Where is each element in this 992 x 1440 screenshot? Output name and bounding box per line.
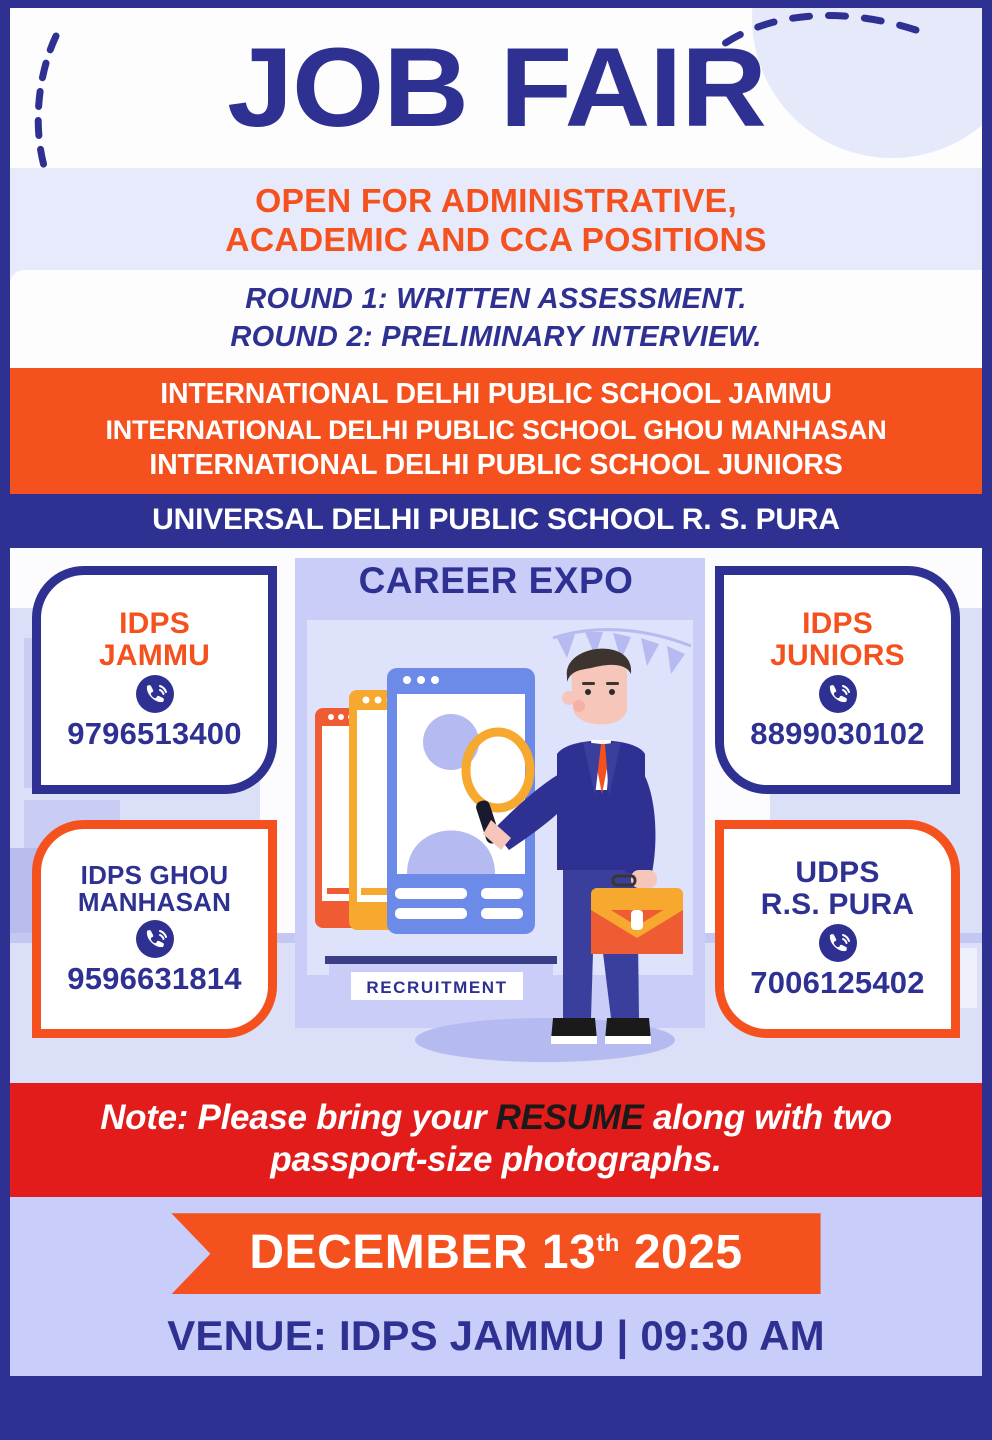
phone-icon — [818, 923, 858, 963]
school-name: INTERNATIONAL DELHI PUBLIC SCHOOL JUNIOR… — [10, 447, 982, 483]
positions-heading: OPEN FOR ADMINISTRATIVE, ACADEMIC AND CC… — [10, 182, 982, 260]
note-text: Note: Please bring your RESUME along wit… — [28, 1097, 964, 1181]
contact-badge-idps-jammu[interactable]: IDPS JAMMU 9796513400 — [32, 566, 277, 794]
event-date-month-day: DECEMBER 13 — [249, 1226, 596, 1279]
contact-phone-number[interactable]: 9596631814 — [67, 961, 241, 997]
note-text-highlight: RESUME — [496, 1098, 644, 1137]
round-2-text: ROUND 2: PRELIMINARY INTERVIEW. — [10, 318, 982, 356]
school-name: INTERNATIONAL DELHI PUBLIC SCHOOL JAMMU — [10, 376, 982, 412]
school-name: INTERNATIONAL DELHI PUBLIC SCHOOL GHOU M… — [10, 413, 982, 448]
rounds-block: ROUND 1: WRITTEN ASSESSMENT. ROUND 2: PR… — [10, 270, 982, 369]
date-ribbon-wrap: DECEMBER 13th 2025 — [10, 1213, 982, 1294]
venue-and-time: VENUE: IDPS JAMMU | 09:30 AM — [10, 1312, 982, 1360]
contact-badge-idps-juniors[interactable]: IDPS JUNIORS 8899030102 — [715, 566, 960, 794]
note-text-before: Note: Please bring your — [100, 1098, 495, 1137]
event-date-ribbon: DECEMBER 13th 2025 — [171, 1213, 820, 1294]
schools-orange-band: INTERNATIONAL DELHI PUBLIC SCHOOL JAMMU … — [10, 368, 982, 493]
footer-section: DECEMBER 13th 2025 VENUE: IDPS JAMMU | 0… — [10, 1197, 982, 1376]
contact-name-line-1: IDPS — [119, 608, 190, 640]
contact-name-line-2: JUNIORS — [770, 640, 905, 672]
round-1-text: ROUND 1: WRITTEN ASSESSMENT. — [10, 280, 982, 318]
contact-phone-number[interactable]: 9796513400 — [67, 716, 241, 752]
page-title: JOB FAIR — [10, 35, 982, 141]
event-date-ordinal: th — [596, 1230, 620, 1257]
contact-phone-number[interactable]: 8899030102 — [750, 716, 924, 752]
svg-text:RECRUITMENT: RECRUITMENT — [366, 978, 507, 997]
phone-icon — [135, 919, 175, 959]
contact-badge-idps-ghou-manhasan[interactable]: IDPS GHOU MANHASAN 9596631814 — [32, 820, 277, 1038]
contact-name-line-1: IDPS GHOU — [81, 862, 229, 890]
phone-icon — [818, 674, 858, 714]
contact-name-line-1: IDPS — [802, 608, 873, 640]
contact-name-line-2: R.S. PURA — [761, 889, 915, 921]
job-fair-poster: JOB FAIR OPEN FOR ADMINISTRATIVE, ACADEM… — [0, 0, 992, 1440]
positions-line-1: OPEN FOR ADMINISTRATIVE, — [10, 182, 982, 221]
subtitle-section: OPEN FOR ADMINISTRATIVE, ACADEMIC AND CC… — [10, 168, 982, 368]
contact-name-line-1: UDPS — [795, 857, 879, 889]
schools-blue-band: UNIVERSAL DELHI PUBLIC SCHOOL R. S. PURA — [10, 494, 982, 548]
contact-phone-number[interactable]: 7006125402 — [750, 965, 924, 1001]
event-date-year: 2025 — [634, 1226, 743, 1279]
contact-badge-udps-rs-pura[interactable]: UDPS R.S. PURA 7006125402 — [715, 820, 960, 1038]
contact-name-line-2: MANHASAN — [78, 889, 231, 917]
note-band: Note: Please bring your RESUME along wit… — [10, 1083, 982, 1197]
phone-icon — [135, 674, 175, 714]
school-name: UNIVERSAL DELHI PUBLIC SCHOOL R. S. PURA — [10, 501, 982, 539]
contacts-and-illustration-section: RECRUITMENT — [10, 548, 982, 1083]
career-expo-illustration: RECRUITMENT — [295, 558, 705, 1073]
contact-name-line-2: JAMMU — [99, 640, 210, 672]
poster-header: JOB FAIR — [10, 8, 982, 168]
positions-line-2: ACADEMIC AND CCA POSITIONS — [10, 221, 982, 260]
